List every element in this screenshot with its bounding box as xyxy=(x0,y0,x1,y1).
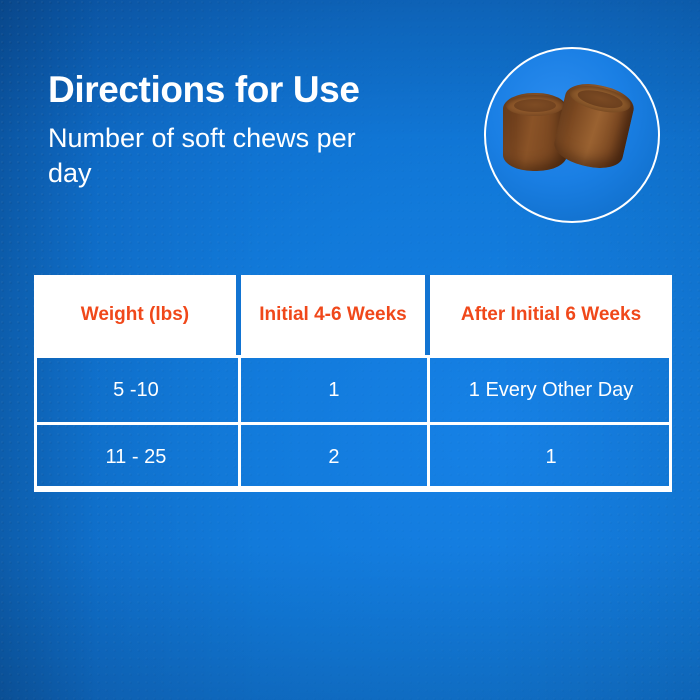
headline-block: Directions for Use Number of soft chews … xyxy=(48,70,448,190)
table-header-row: Weight (lbs) Initial 4-6 Weeks After Ini… xyxy=(34,275,672,355)
directions-for-use-panel: Directions for Use Number of soft chews … xyxy=(0,0,700,700)
soft-chew-left-top-recess xyxy=(514,99,556,112)
dosage-table-body: 5 -10 1 1 Every Other Day 11 - 25 2 1 xyxy=(34,355,672,492)
column-header-initial-weeks: Initial 4-6 Weeks xyxy=(241,275,430,355)
column-header-after-initial-weeks: After Initial 6 Weeks xyxy=(430,275,672,355)
cell-after-row-2: 1 xyxy=(430,422,672,492)
column-header-weight: Weight (lbs) xyxy=(34,275,241,355)
cell-weight-row-1: 5 -10 xyxy=(34,355,241,422)
page-subtitle: Number of soft chews per day xyxy=(48,121,393,190)
table-row: 5 -10 1 1 Every Other Day xyxy=(34,355,672,422)
page-title: Directions for Use xyxy=(48,70,448,109)
product-image-circle xyxy=(484,47,660,223)
cell-after-row-1: 1 Every Other Day xyxy=(430,355,672,422)
dosage-table-head: Weight (lbs) Initial 4-6 Weeks After Ini… xyxy=(34,275,672,355)
dosage-table: Weight (lbs) Initial 4-6 Weeks After Ini… xyxy=(34,275,672,492)
cell-initial-row-2: 2 xyxy=(241,422,430,492)
cell-initial-row-1: 1 xyxy=(241,355,430,422)
table-row: 11 - 25 2 1 xyxy=(34,422,672,492)
cell-weight-row-2: 11 - 25 xyxy=(34,422,241,492)
